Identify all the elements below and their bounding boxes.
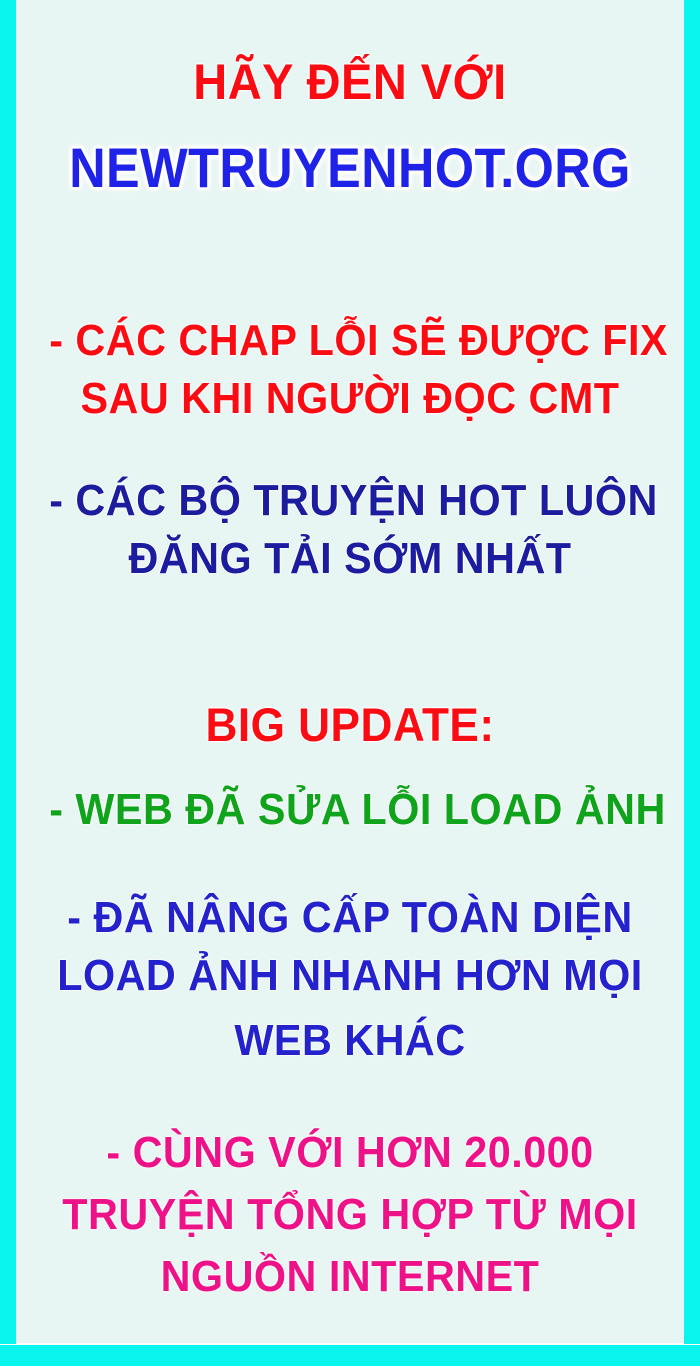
big-update-title: BIG UPDATE:: [49, 697, 651, 752]
update-upgrade-line-2: LOAD ẢNH NHANH HƠN MỌI: [49, 951, 651, 1001]
update-count-line-3: NGUỒN INTERNET: [49, 1252, 651, 1302]
update-count-line-2: TRUYỆN TỔNG HỢP TỪ MỌI: [49, 1190, 651, 1240]
notice-fix-line-1: - CÁC CHAP LỖI SẼ ĐƯỢC FIX: [49, 316, 651, 366]
left-cyan-rail: [0, 0, 16, 1344]
site-domain-text: NEWTRUYENHOT.ORG: [62, 135, 638, 200]
update-upgrade-line-1: - ĐÃ NÂNG CẤP TOÀN DIỆN: [49, 893, 651, 943]
update-upgrade-line-3: WEB KHÁC: [49, 1016, 651, 1066]
notice-fix-line-2: SAU KHI NGƯỜI ĐỌC CMT: [49, 374, 651, 424]
bottom-cyan-bar: [0, 1345, 700, 1366]
promo-banner: HÃY ĐẾN VỚI NEWTRUYENHOT.ORG - CÁC CHAP …: [0, 0, 700, 1368]
update-image-load-text: - WEB ĐÃ SỬA LỖI LOAD ẢNH: [49, 785, 651, 835]
hero-headline: HÃY ĐẾN VỚI: [49, 53, 651, 111]
notice-hot-line-1: - CÁC BỘ TRUYỆN HOT LUÔN: [49, 476, 651, 526]
notice-hot-line-2: ĐĂNG TẢI SỚM NHẤT: [49, 534, 651, 584]
right-cyan-rail: [684, 0, 700, 1344]
update-count-line-1: - CÙNG VỚI HƠN 20.000: [49, 1128, 651, 1178]
banner-canvas: HÃY ĐẾN VỚI NEWTRUYENHOT.ORG - CÁC CHAP …: [16, 0, 684, 1343]
